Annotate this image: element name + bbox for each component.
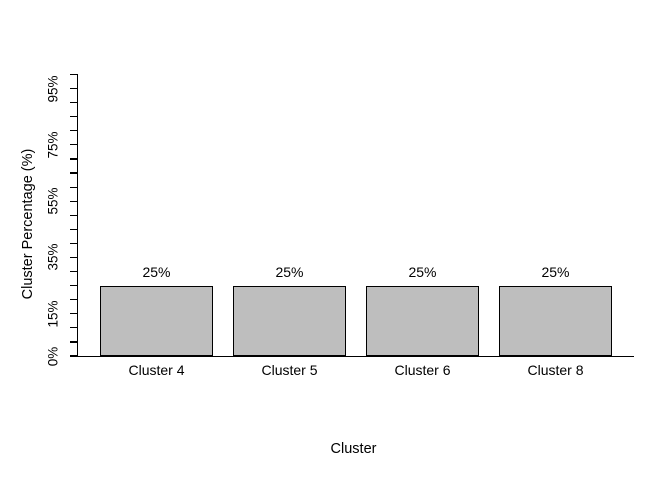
x-axis-category-label: Cluster 8 (489, 362, 622, 378)
bar-value-label: 25% (489, 264, 622, 280)
bar-value-label: 25% (356, 264, 489, 280)
bars-layer: 25%Cluster 425%Cluster 525%Cluster 625%C… (0, 0, 672, 480)
bar (233, 286, 346, 356)
bar (366, 286, 479, 356)
x-axis-category-label: Cluster 6 (356, 362, 489, 378)
bar-chart: Cluster Percentage (%) 0%15%35%55%75%95%… (0, 0, 672, 480)
bar (100, 286, 213, 356)
bar (499, 286, 612, 356)
bar-value-label: 25% (223, 264, 356, 280)
x-axis-title: Cluster (0, 441, 672, 457)
x-axis-category-label: Cluster 5 (223, 362, 356, 378)
bar-value-label: 25% (90, 264, 223, 280)
x-axis-category-label: Cluster 4 (90, 362, 223, 378)
